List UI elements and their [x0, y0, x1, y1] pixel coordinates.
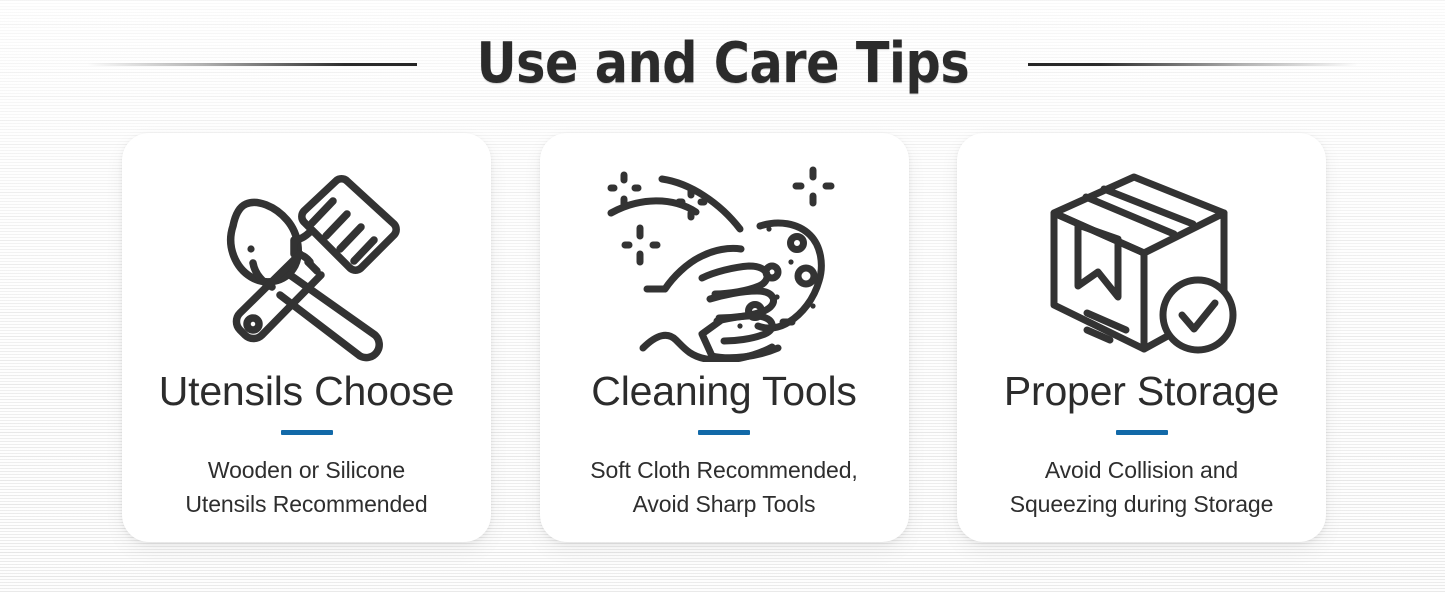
tip-card-cleaning-tools: Cleaning Tools Soft Cloth Recommended, A…	[540, 133, 909, 542]
card-title: Cleaning Tools	[591, 371, 856, 412]
header: Use and Care Tips	[0, 22, 1445, 106]
card-accent-divider	[698, 430, 750, 435]
tip-card-utensils-choose: Utensils Choose Wooden or Silicone Utens…	[122, 133, 491, 542]
card-title: Proper Storage	[1004, 371, 1279, 412]
card-accent-divider	[1116, 430, 1168, 435]
card-description: Wooden or Silicone Utensils Recommended	[185, 454, 427, 522]
card-title: Utensils Choose	[159, 371, 455, 412]
page-title: Use and Care Tips	[476, 36, 969, 92]
decorative-rule-right-icon	[1028, 63, 1358, 66]
card-description: Avoid Collision and Squeezing during Sto…	[1010, 454, 1274, 522]
hand-sponge-icon	[540, 159, 909, 369]
tips-card-list: Utensils Choose Wooden or Silicone Utens…	[122, 133, 1326, 542]
package-check-icon	[957, 159, 1326, 369]
card-description: Soft Cloth Recommended, Avoid Sharp Tool…	[590, 454, 857, 522]
tip-card-proper-storage: Proper Storage Avoid Collision and Squee…	[957, 133, 1326, 542]
card-accent-divider	[281, 430, 333, 435]
use-and-care-tips-banner: Use and Care Tips	[0, 0, 1445, 592]
utensils-icon	[122, 159, 491, 369]
decorative-rule-left-icon	[87, 63, 417, 66]
